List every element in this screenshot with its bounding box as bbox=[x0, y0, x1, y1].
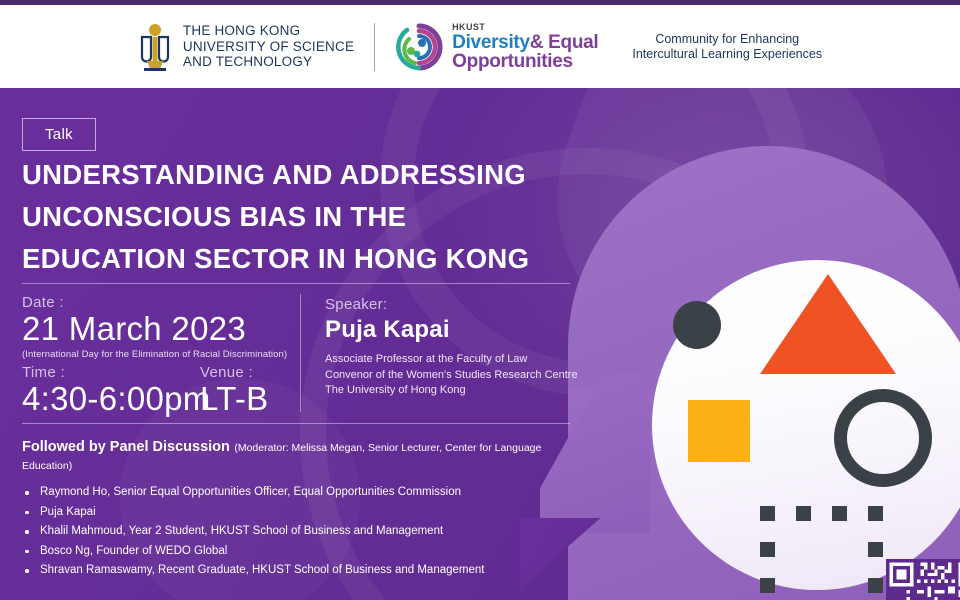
poster-content: Talk UNDERSTANDING AND ADDRESSING UNCONS… bbox=[0, 88, 960, 600]
list-item: Khalil Mahmoud, Year 2 Student, HKUST Sc… bbox=[22, 522, 582, 542]
deo-swirl-icon bbox=[395, 23, 443, 71]
page-title: UNDERSTANDING AND ADDRESSING UNCONSCIOUS… bbox=[22, 154, 592, 280]
hkust-university-name: THE HONG KONG UNIVERSITY OF SCIENCE AND … bbox=[183, 23, 354, 70]
panel-discussion-block: Followed by Panel Discussion (Moderator:… bbox=[22, 438, 582, 581]
venue-value: LT-B bbox=[200, 381, 268, 417]
speaker-label: Speaker: bbox=[325, 296, 578, 313]
section-divider bbox=[22, 283, 570, 284]
hkust-logo-icon bbox=[138, 23, 172, 71]
vertical-divider bbox=[300, 294, 301, 412]
deo-logo: HKUST Diversity& Equal Opportunities bbox=[395, 23, 598, 71]
date-value: 21 March 2023 bbox=[22, 311, 287, 347]
panel-heading: Followed by Panel Discussion bbox=[22, 439, 230, 455]
time-block: Time : 4:30-6:00pm bbox=[22, 364, 211, 417]
qr-code-icon[interactable] bbox=[886, 559, 960, 600]
section-divider bbox=[22, 423, 570, 424]
venue-label: Venue : bbox=[200, 364, 268, 381]
deo-equal-label: & Equal bbox=[530, 32, 599, 53]
date-label: Date : bbox=[22, 294, 287, 311]
hkust-university-logo: THE HONG KONG UNIVERSITY OF SCIENCE AND … bbox=[138, 23, 354, 71]
venue-block: Venue : LT-B bbox=[200, 364, 268, 417]
list-item: Puja Kapai bbox=[22, 503, 582, 523]
deo-hkust-label: HKUST bbox=[452, 23, 598, 32]
deo-diversity-label: Diversity bbox=[452, 32, 530, 53]
time-label: Time : bbox=[22, 364, 211, 381]
deo-opportunities-label: Opportunities bbox=[452, 52, 598, 71]
header-divider bbox=[374, 23, 375, 71]
list-item: Bosco Ng, Founder of WEDO Global bbox=[22, 542, 582, 562]
list-item: Shravan Ramaswamy, Recent Graduate, HKUS… bbox=[22, 561, 582, 581]
community-tagline: Community for Enhancing Intercultural Le… bbox=[632, 32, 822, 62]
talk-badge: Talk bbox=[22, 118, 96, 151]
time-value: 4:30-6:00pm bbox=[22, 381, 211, 417]
event-poster: THE HONG KONG UNIVERSITY OF SCIENCE AND … bbox=[0, 0, 960, 600]
date-note: (International Day for the Elimination o… bbox=[22, 349, 287, 360]
poster-header: THE HONG KONG UNIVERSITY OF SCIENCE AND … bbox=[0, 5, 960, 88]
list-item: Raymond Ho, Senior Equal Opportunities O… bbox=[22, 483, 582, 503]
speaker-affiliation: Associate Professor at the Faculty of La… bbox=[325, 352, 578, 399]
panelist-list: Raymond Ho, Senior Equal Opportunities O… bbox=[22, 483, 582, 581]
date-block: Date : 21 March 2023 (International Day … bbox=[22, 294, 287, 360]
speaker-block: Speaker: Puja Kapai Associate Professor … bbox=[325, 296, 578, 399]
speaker-name: Puja Kapai bbox=[325, 316, 578, 344]
